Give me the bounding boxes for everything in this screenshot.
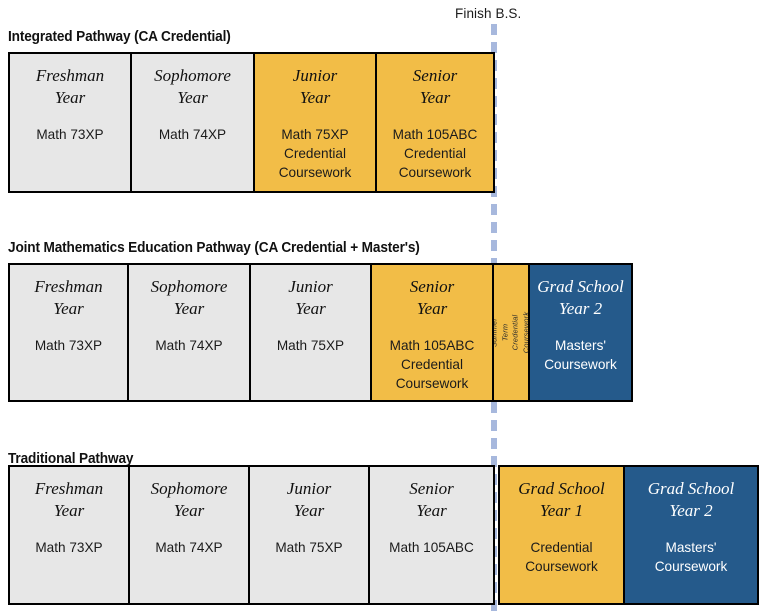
pathway-title-integrated: Integrated Pathway (CA Credential) bbox=[8, 29, 231, 45]
box-traditional-senior[interactable]: Senior Year Math 105ABC bbox=[368, 465, 495, 605]
box-year-label: Grad School Year 1 bbox=[518, 478, 604, 521]
box-courses-label: Math 75XP bbox=[275, 539, 342, 558]
box-courses-label: Math 75XP bbox=[277, 337, 344, 356]
box-traditional-grad-year-2[interactable]: Grad School Year 2 Masters' Coursework bbox=[623, 465, 759, 605]
pathway-title-joint: Joint Mathematics Education Pathway (CA … bbox=[8, 240, 420, 256]
box-courses-label: Math 74XP bbox=[155, 337, 222, 356]
box-traditional-junior[interactable]: Junior Year Math 75XP bbox=[248, 465, 370, 605]
box-integrated-senior[interactable]: Senior Year Math 105ABC Credential Cours… bbox=[375, 52, 495, 193]
box-courses-label: Math 73XP bbox=[36, 126, 103, 145]
box-courses-label: Math 75XP Credential Coursework bbox=[279, 126, 352, 183]
pathway-row-integrated: Freshman Year Math 73XP Sophomore Year M… bbox=[8, 52, 495, 193]
box-courses-label: Masters' Coursework bbox=[655, 539, 728, 577]
box-year-label: Grad School Year 2 bbox=[537, 276, 623, 319]
box-year-label: Senior Year bbox=[409, 478, 453, 521]
box-year-label: Sophomore Year bbox=[151, 276, 228, 319]
box-courses-label: Math 105ABC bbox=[389, 539, 474, 558]
box-integrated-freshman[interactable]: Freshman Year Math 73XP bbox=[8, 52, 132, 193]
box-traditional-freshman[interactable]: Freshman Year Math 73XP bbox=[8, 465, 130, 605]
box-year-label: Sophomore Year bbox=[151, 478, 228, 521]
box-year-label: Junior Year bbox=[287, 478, 331, 521]
box-courses-label: Credential Coursework bbox=[525, 539, 598, 577]
box-courses-label: Math 73XP bbox=[35, 539, 102, 558]
box-year-label: Freshman Year bbox=[36, 65, 104, 108]
box-joint-freshman[interactable]: Freshman Year Math 73XP bbox=[8, 263, 129, 402]
box-courses-label: Math 74XP bbox=[155, 539, 222, 558]
box-integrated-sophomore[interactable]: Sophomore Year Math 74XP bbox=[130, 52, 255, 193]
pathways-diagram: Finish B.S. Integrated Pathway (CA Crede… bbox=[0, 0, 768, 615]
box-year-label: Sophomore Year bbox=[154, 65, 231, 108]
box-courses-label: Math 73XP bbox=[35, 337, 102, 356]
box-traditional-grad-year-1[interactable]: Grad School Year 1 Credential Coursework bbox=[498, 465, 625, 605]
box-joint-senior[interactable]: Senior Year Math 105ABC Credential Cours… bbox=[370, 263, 494, 402]
box-joint-summer-term[interactable]: Summer Term Credential Coursework bbox=[492, 263, 530, 402]
box-joint-sophomore[interactable]: Sophomore Year Math 74XP bbox=[127, 263, 251, 402]
box-year-label: Senior Year bbox=[413, 65, 457, 108]
box-courses-label: Math 74XP bbox=[159, 126, 226, 145]
box-traditional-sophomore[interactable]: Sophomore Year Math 74XP bbox=[128, 465, 250, 605]
summer-term-vertical-label: Summer Term Credential Coursework bbox=[492, 312, 530, 353]
box-year-label: Junior Year bbox=[288, 276, 332, 319]
box-integrated-junior[interactable]: Junior Year Math 75XP Credential Coursew… bbox=[253, 52, 377, 193]
box-courses-label: Math 105ABC Credential Coursework bbox=[393, 126, 478, 183]
pathway-row-traditional: Freshman Year Math 73XP Sophomore Year M… bbox=[8, 465, 759, 605]
box-year-label: Junior Year bbox=[293, 65, 337, 108]
box-joint-grad-year-2[interactable]: Grad School Year 2 Masters' Coursework bbox=[528, 263, 633, 402]
box-courses-label: Math 105ABC Credential Coursework bbox=[390, 337, 475, 394]
pathway-row-joint: Freshman Year Math 73XP Sophomore Year M… bbox=[8, 263, 633, 402]
finish-bs-label: Finish B.S. bbox=[455, 6, 521, 21]
box-year-label: Freshman Year bbox=[35, 478, 103, 521]
box-year-label: Freshman Year bbox=[34, 276, 102, 319]
box-year-label: Grad School Year 2 bbox=[648, 478, 734, 521]
box-courses-label: Masters' Coursework bbox=[544, 337, 617, 375]
box-joint-junior[interactable]: Junior Year Math 75XP bbox=[249, 263, 372, 402]
box-year-label: Senior Year bbox=[410, 276, 454, 319]
